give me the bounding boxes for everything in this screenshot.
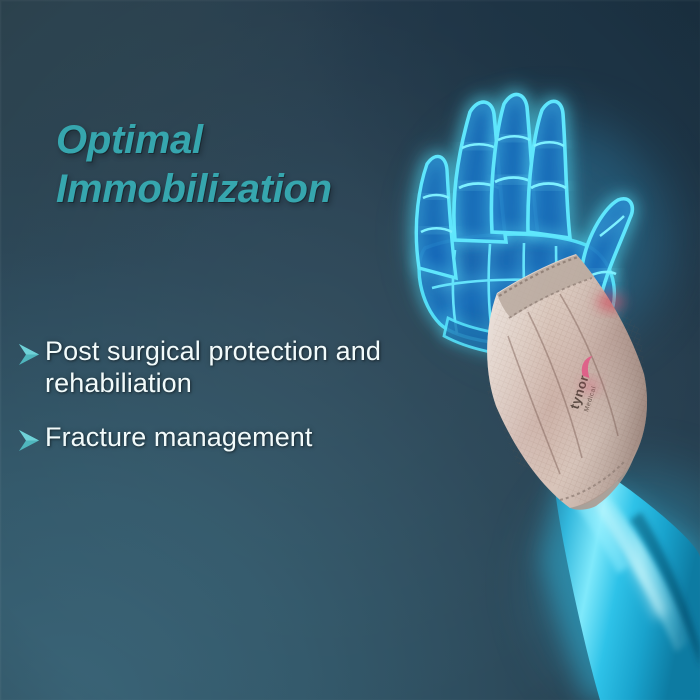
slide-border (0, 0, 700, 700)
slide-canvas: tynor Medical Optimal Immobilization (0, 0, 700, 700)
